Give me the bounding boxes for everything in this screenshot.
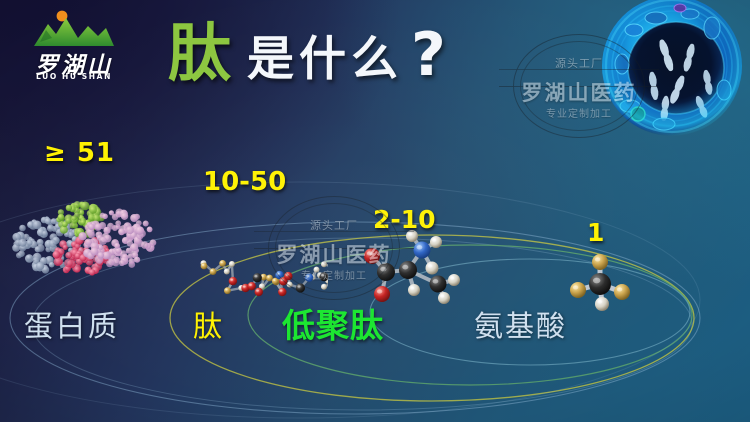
title-highlight: 肽 xyxy=(168,22,231,85)
category-label-peptide: 肽 xyxy=(193,303,224,345)
oligopeptide-molecule-image xyxy=(362,228,470,306)
callout-protein-count: ≥ 51 xyxy=(44,138,115,168)
category-label-amino-acid: 氨基酸 xyxy=(474,303,567,345)
category-label-protein: 蛋白质 xyxy=(24,303,120,345)
page-title: 肽 是什么 ? xyxy=(168,22,446,85)
brand-logo: 罗湖山 LUO HU SHAN xyxy=(18,8,130,86)
category-label-oligopeptide: 低聚肽 xyxy=(282,299,384,347)
title-question-mark: ? xyxy=(411,25,446,85)
logo-pinyin: LUO HU SHAN xyxy=(18,72,130,81)
cell-image xyxy=(594,0,750,144)
callout-peptide-count: 10-50 xyxy=(203,167,286,197)
title-middle: 是什么 xyxy=(247,36,403,83)
callout-oligopeptide-count: 2-10 xyxy=(373,205,436,234)
callout-amino-acid-count: 1 xyxy=(587,218,604,247)
logo-mountain-icon xyxy=(32,8,116,48)
poster-canvas: 罗湖山 LUO HU SHAN 肽 是什么 ? ≥ 51 10-50 2-10 … xyxy=(0,0,750,422)
amino-acid-molecule-image xyxy=(558,246,644,312)
peptide-molecule-image xyxy=(186,194,328,298)
protein-image xyxy=(6,186,174,294)
